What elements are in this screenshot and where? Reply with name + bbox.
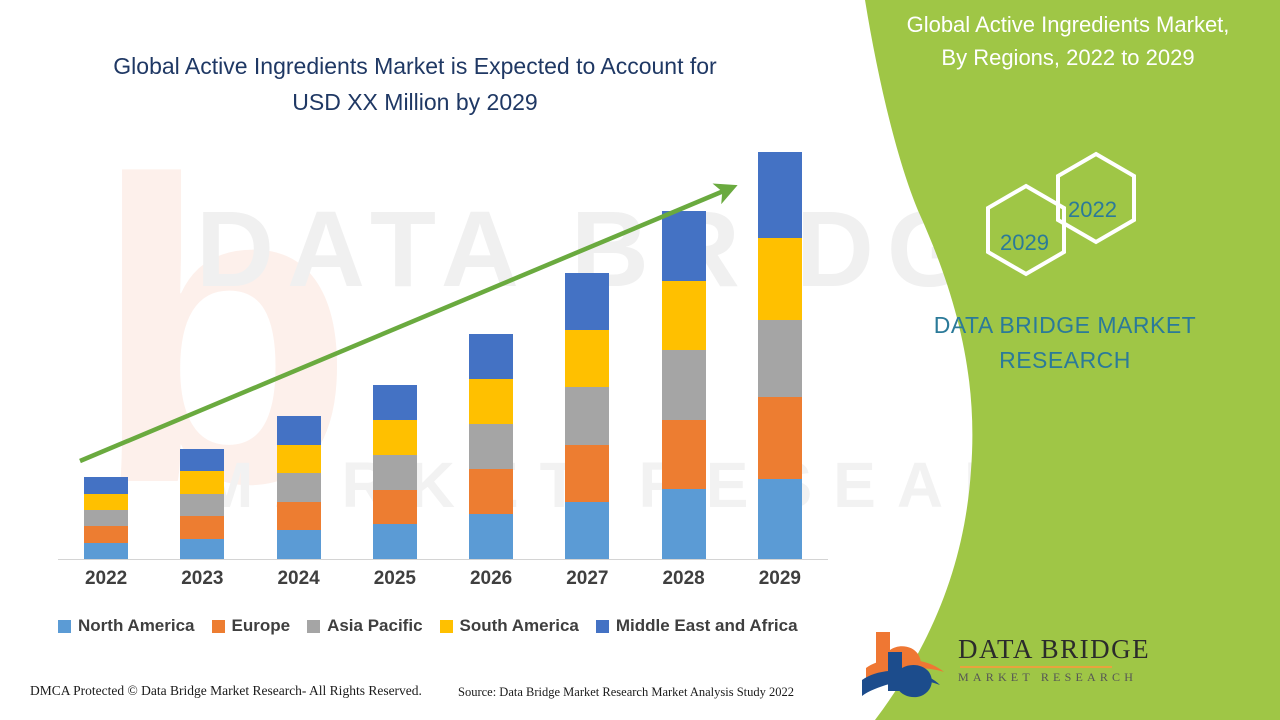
x-axis-label: 2028 [636,568,732,590]
chart-title-line2: USD XX Million by 2029 [60,84,770,120]
footer-source: Source: Data Bridge Market Research Mark… [458,685,794,700]
footer-copyright: DMCA Protected © Data Bridge Market Rese… [30,683,422,699]
panel-content: Global Active Ingredients Market, By Reg… [840,0,1280,720]
x-axis-label: 2023 [154,568,250,590]
bar-column [58,150,154,559]
bar-segment [469,469,513,514]
bar-segment [469,334,513,379]
chart-title-line1: Global Active Ingredients Market is Expe… [60,48,770,84]
bar-column [251,150,347,559]
brand-panel: Global Active Ingredients Market, By Reg… [840,0,1280,720]
slide-root: b DATA BRIDGE MARKET RESEARCH Global Act… [0,0,1280,720]
panel-title: Global Active Ingredients Market, By Reg… [868,8,1268,74]
bar-stack [373,385,417,559]
bar-segment [180,516,224,538]
bar-segment [565,502,609,559]
bar-stack [758,152,802,559]
bar-stack [180,449,224,559]
bar-column [539,150,635,559]
bar-segment [180,449,224,471]
bar-segment [662,281,706,351]
panel-title-line1: Global Active Ingredients Market, [868,8,1268,41]
x-axis-label: 2025 [347,568,443,590]
bar-segment [469,424,513,469]
bar-segment [277,416,321,445]
bar-segment [277,530,321,559]
bar-stack [662,211,706,559]
chart-region: Global Active Ingredients Market is Expe… [0,0,860,720]
bar-column [732,150,828,559]
bar-segment [277,473,321,502]
bar-segment [469,514,513,559]
bar-segment [180,539,224,559]
dbmr-logo-subtitle: MARKET RESEARCH [958,670,1150,685]
bar-segment [758,152,802,238]
bar-segment [373,385,417,420]
x-axis-label: 2022 [58,568,154,590]
dbmr-logo-mark-icon [858,628,954,698]
x-axis-label: 2027 [539,568,635,590]
bar-segment [84,494,128,510]
x-axis-line [58,559,828,560]
bar-segment [373,490,417,525]
x-axis-labels: 20222023202420252026202720282029 [58,568,828,590]
bar-segment [180,471,224,493]
brand-name-line1: DATA BRIDGE MARKET [860,308,1270,343]
legend-item[interactable]: North America [58,616,195,636]
bar-segment [758,320,802,398]
bar-segment [277,502,321,531]
dbmr-logo-text: DATA BRIDGE MARKET RESEARCH [958,634,1150,685]
brand-name-line2: RESEARCH [860,343,1270,378]
bar-group [58,150,828,559]
x-axis-label: 2029 [732,568,828,590]
dbmr-logo-title: DATA BRIDGE [958,634,1150,665]
hexagon-label-2029: 2029 [1000,230,1049,256]
footer: DMCA Protected © Data Bridge Market Rese… [0,683,860,720]
legend-label: Asia Pacific [327,616,422,636]
plot-area [58,150,828,560]
chart-title: Global Active Ingredients Market is Expe… [60,48,770,120]
x-axis-label: 2024 [251,568,347,590]
bar-segment [662,211,706,281]
bar-stack [84,477,128,559]
bar-segment [565,273,609,330]
dbmr-logo-divider [960,666,1112,668]
bar-stack [277,416,321,559]
bar-segment [373,524,417,559]
bar-segment [84,543,128,559]
bar-column [154,150,250,559]
bar-segment [662,350,706,420]
bar-segment [373,455,417,490]
legend-swatch-icon [58,620,71,633]
legend-label: Middle East and Africa [616,616,798,636]
bar-segment [277,445,321,474]
legend-item[interactable]: Europe [212,616,291,636]
bar-stack [469,334,513,559]
legend-label: Europe [232,616,291,636]
brand-name: DATA BRIDGE MARKET RESEARCH [860,308,1270,378]
chart-legend: North AmericaEuropeAsia PacificSouth Ame… [58,616,838,636]
bar-segment [758,397,802,479]
bar-segment [84,477,128,493]
bar-column [636,150,732,559]
bar-segment [565,387,609,444]
bar-segment [373,420,417,455]
hexagon-group: 2022 2029 [968,150,1168,280]
bar-segment [758,238,802,320]
bar-segment [662,489,706,559]
bar-stack [565,273,609,559]
bar-segment [565,330,609,387]
legend-label: South America [460,616,579,636]
bar-column [443,150,539,559]
legend-swatch-icon [440,620,453,633]
legend-item[interactable]: Asia Pacific [307,616,422,636]
legend-swatch-icon [212,620,225,633]
hexagon-label-2022: 2022 [1068,197,1117,223]
legend-item[interactable]: South America [440,616,579,636]
bar-segment [469,379,513,424]
bar-column [347,150,443,559]
bar-segment [662,420,706,490]
legend-item[interactable]: Middle East and Africa [596,616,798,636]
x-axis-label: 2026 [443,568,539,590]
dbmr-logo: DATA BRIDGE MARKET RESEARCH [858,628,1118,700]
bar-segment [84,526,128,542]
bar-segment [758,479,802,559]
legend-swatch-icon [307,620,320,633]
panel-title-line2: By Regions, 2022 to 2029 [868,41,1268,74]
bar-segment [180,494,224,516]
bar-segment [565,445,609,502]
legend-swatch-icon [596,620,609,633]
legend-label: North America [78,616,195,636]
bar-segment [84,510,128,526]
